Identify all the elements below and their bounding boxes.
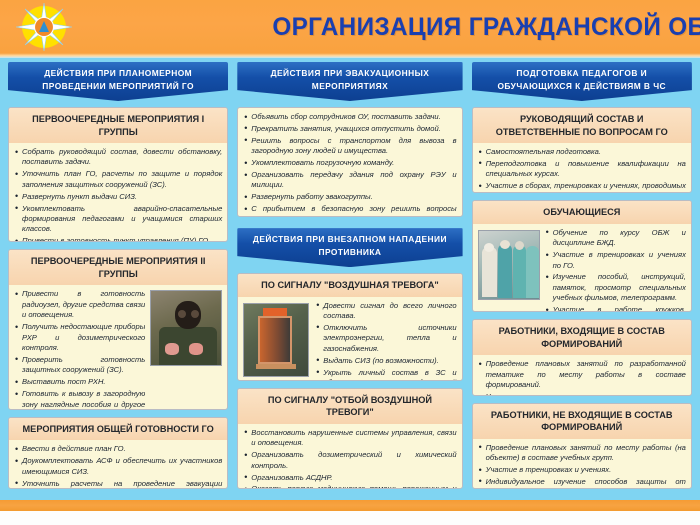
list-item: Довести сигнал до всего личного состава. — [315, 301, 456, 322]
footer-white-strip — [0, 511, 700, 525]
list-item: Проверить готовность защитных сооружений… — [14, 355, 145, 376]
card-body: Обучение по курсу ОБЖ и дисциплине БЖД. … — [473, 224, 691, 313]
card-all-clear-signal: ПО СИГНАЛУ "ОТБОЙ ВОЗДУШНОЙ ТРЕВОГИ" Вос… — [237, 388, 462, 489]
list-item: Участие в тренировках и учениях. — [478, 465, 686, 475]
list-item: Решить вопросы с транспортом для вывоза … — [243, 136, 456, 157]
card-title: РУКОВОДЯЩИЙ СОСТАВ И ОТВЕТСТВЕННЫЕ ПО ВО… — [473, 108, 691, 143]
list-item: Прекратить занятия, учащихся отпустить д… — [243, 124, 456, 134]
column-1-banner: ДЕЙСТВИЯ ПРИ ПЛАНОМЕРНОМ ПРОВЕДЕНИИ МЕРО… — [8, 62, 228, 101]
bullet-list: Самостоятельная подготовка. Переподготов… — [478, 147, 686, 193]
list-item: Проведение плановых занятий по разработа… — [478, 359, 686, 390]
list-item: Участие в тренировках и учениях. — [478, 392, 686, 396]
poster-root: ОРГАНИЗАЦИЯ ГРАЖДАНСКОЙ ОБОРОНЫ ДЕЙСТВИЯ… — [0, 0, 700, 525]
bullet-list: Проведение плановых занятий по месту раб… — [478, 443, 686, 489]
page-title: ОРГАНИЗАЦИЯ ГРАЖДАНСКОЙ ОБОРОНЫ — [272, 9, 683, 45]
column-evacuation-and-sudden-attack: ДЕЙСТВИЯ ПРИ ЭВАКУАЦИОННЫХ МЕРОПРИЯТИЯХ … — [233, 58, 466, 496]
bullet-list: Собрать руководящий состав, довести обст… — [14, 147, 222, 242]
photo-shape — [498, 244, 512, 298]
list-item: Выставить пост РХН. — [14, 377, 145, 387]
card-body: Привести в готовность радиоузел, другие … — [9, 285, 227, 409]
list-item: Собрать руководящий состав, довести обст… — [14, 147, 222, 168]
list-item: Проведение плановых занятий по месту раб… — [478, 443, 686, 464]
list-item: Уточнить план ГО, расчеты по защите и по… — [14, 169, 222, 190]
card-body: Собрать руководящий состав, довести обст… — [9, 143, 227, 242]
card-body: Самостоятельная подготовка. Переподготов… — [473, 143, 691, 193]
list-item: Получить недостающие приборы РХР и дозим… — [14, 322, 145, 353]
card-title: ПО СИГНАЛУ "ОТБОЙ ВОЗДУШНОЙ ТРЕВОГИ" — [238, 389, 461, 424]
photo-shape — [258, 316, 292, 364]
list-item: Обучение по курсу ОБЖ и дисциплине БЖД. — [545, 228, 686, 249]
card-general-readiness-measures: МЕРОПРИЯТИЯ ОБЩЕЙ ГОТОВНОСТИ ГО Ввести в… — [8, 417, 228, 489]
card-title: РАБОТНИКИ, ВХОДЯЩИЕ В СОСТАВ ФОРМИРОВАНИ… — [473, 320, 691, 355]
card-title: ПЕРВООЧЕРЕДНЫЕ МЕРОПРИЯТИЯ I ГРУППЫ — [9, 108, 227, 143]
list-item: Переподготовка и повышение квалификации … — [478, 159, 686, 180]
poster-header: ОРГАНИЗАЦИЯ ГРАЖДАНСКОЙ ОБОРОНЫ — [0, 0, 700, 53]
list-item: Индивидуальное изучение способов защиты … — [478, 477, 686, 489]
list-item: Выдать СИЗ (по возможности). — [315, 356, 456, 366]
list-item: Участие в работе кружков, отрядов, дружи… — [545, 305, 686, 312]
photo-shape — [513, 245, 526, 298]
list-item: Развернуть пункт выдачи СИЗ. — [14, 192, 222, 202]
list-item: Развернуть работу эвакогруппы. — [243, 192, 456, 202]
list-item: Участие в тренировках и учениях по ГО. — [545, 250, 686, 271]
card-evacuation-measures: Объявить сбор сотрудников ОУ, поставить … — [237, 107, 462, 217]
card-body: Восстановить нарушенные системы управлен… — [238, 424, 461, 489]
content-columns: ДЕЙСТВИЯ ПРИ ПЛАНОМЕРНОМ ПРОВЕДЕНИИ МЕРО… — [0, 58, 700, 496]
card-body: Проведение плановых занятий по разработа… — [473, 355, 691, 395]
card-air-raid-alarm-signal: ПО СИГНАЛУ "ВОЗДУШНАЯ ТРЕВОГА" Довести с… — [237, 273, 462, 381]
card-title: РАБОТНИКИ, НЕ ВХОДЯЩИЕ В СОСТАВ ФОРМИРОВ… — [473, 404, 691, 439]
card-body: Довести сигнал до всего личного состава.… — [238, 297, 461, 381]
bullet-list: Обучение по курсу ОБЖ и дисциплине БЖД. … — [545, 228, 686, 313]
list-item: Изучение пособий, инструкций, памяток, п… — [545, 272, 686, 303]
card-title: ПО СИГНАЛУ "ВОЗДУШНАЯ ТРЕВОГА" — [238, 274, 461, 297]
photo-shape — [515, 241, 524, 250]
list-item: Участие в сборах, тренировках и учениях,… — [478, 181, 686, 193]
photo-shape — [500, 240, 510, 249]
card-first-priority-group-2: ПЕРВООЧЕРЕДНЫЕ МЕРОПРИЯТИЯ II ГРУППЫ При… — [8, 249, 228, 409]
photo-shape — [189, 343, 203, 355]
list-item: Оказать первую медицинскую помощь пораже… — [243, 484, 456, 489]
bullet-list: Ввести в действие план ГО. Доукомплектов… — [14, 444, 222, 489]
list-item: Доукомплектовать АСФ и обеспечить их уча… — [14, 456, 222, 477]
card-body: Ввести в действие план ГО. Доукомплектов… — [9, 440, 227, 489]
column-2-banner: ДЕЙСТВИЯ ПРИ ЭВАКУАЦИОННЫХ МЕРОПРИЯТИЯХ — [237, 62, 462, 101]
card-workers-in-formations: РАБОТНИКИ, ВХОДЯЩИЕ В СОСТАВ ФОРМИРОВАНИ… — [472, 319, 692, 395]
list-item: С прибытием в безопасную зону решить воп… — [243, 204, 456, 217]
bullet-list: Довести сигнал до всего личного состава.… — [315, 301, 456, 381]
card-body: Проведение плановых занятий по месту раб… — [473, 439, 691, 489]
list-item: Организовать АСДНР. — [243, 473, 456, 483]
card-workers-not-in-formations: РАБОТНИКИ, НЕ ВХОДЯЩИЕ В СОСТАВ ФОРМИРОВ… — [472, 403, 692, 489]
card-title: ПЕРВООЧЕРЕДНЫЕ МЕРОПРИЯТИЯ II ГРУППЫ — [9, 250, 227, 285]
list-item: Укомплектовать аварийно-спасательные фор… — [14, 204, 222, 235]
list-item: Самостоятельная подготовка. — [478, 147, 686, 157]
bullet-list: Привести в готовность радиоузел, другие … — [14, 289, 145, 409]
list-item: Привести в готовность пункт управления (… — [14, 236, 222, 242]
card-title: ОБУЧАЮЩИЕСЯ — [473, 201, 691, 224]
emercom-russia-emblem-icon — [16, 3, 72, 51]
card-management-staff: РУКОВОДЯЩИЙ СОСТАВ И ОТВЕТСТВЕННЫЕ ПО ВО… — [472, 107, 692, 193]
list-item: Уточнить расчеты на проведение эвакуации… — [14, 479, 222, 489]
card-body: Объявить сбор сотрудников ОУ, поставить … — [238, 108, 461, 217]
photo-shape — [526, 246, 539, 298]
soldier-in-gas-mask-photo — [150, 290, 222, 366]
list-item: Восстановить нарушенные системы управлен… — [243, 428, 456, 449]
card-title: МЕРОПРИЯТИЯ ОБЩЕЙ ГОТОВНОСТИ ГО — [9, 418, 227, 441]
list-item: Привести в готовность радиоузел, другие … — [14, 289, 145, 320]
photo-shape — [256, 364, 296, 369]
footer-orange-band — [0, 500, 700, 511]
list-item: Ввести в действие план ГО. — [14, 444, 222, 454]
card-students: ОБУЧАЮЩИЕСЯ Обучение по курсу ОБЖ и дисц… — [472, 200, 692, 312]
bullet-list: Объявить сбор сотрудников ОУ, поставить … — [243, 112, 456, 217]
list-item: Готовить к вывозу в загородную зону нагл… — [14, 389, 145, 410]
students-in-protective-suits-photo — [478, 230, 540, 300]
column-3-banner: ПОДГОТОВКА ПЕДАГОГОВ И ОБУЧАЮЩИХСЯ К ДЕЙ… — [472, 62, 692, 101]
photo-shape — [482, 247, 497, 297]
card-first-priority-group-1: ПЕРВООЧЕРЕДНЫЕ МЕРОПРИЯТИЯ I ГРУППЫ Собр… — [8, 107, 228, 242]
list-item: Отключить источники электроэнергии, тепл… — [315, 323, 456, 354]
photo-shape — [484, 243, 494, 252]
list-item: Организовать передачу здания под охрану … — [243, 170, 456, 191]
air-raid-siren-photo — [243, 303, 309, 377]
list-item: Укомплектовать погрузочную команду. — [243, 158, 456, 168]
list-item: Объявить сбор сотрудников ОУ, поставить … — [243, 112, 456, 122]
column-planned-go-measures: ДЕЙСТВИЯ ПРИ ПЛАНОМЕРНОМ ПРОВЕДЕНИИ МЕРО… — [0, 58, 233, 496]
list-item: Организовать дозиметрический и химически… — [243, 450, 456, 471]
bullet-list: Проведение плановых занятий по разработа… — [478, 359, 686, 395]
column-training-of-teachers-and-students: ПОДГОТОВКА ПЕДАГОГОВ И ОБУЧАЮЩИХСЯ К ДЕЙ… — [467, 58, 700, 496]
column-2-banner-2: ДЕЙСТВИЯ ПРИ ВНЕЗАПНОМ НАПАДЕНИИ ПРОТИВН… — [237, 228, 462, 267]
bullet-list: Восстановить нарушенные системы управлен… — [243, 428, 456, 489]
list-item: Укрыть личный состав в ЗС и обеспечить в… — [315, 368, 456, 381]
photo-shape — [165, 343, 179, 355]
